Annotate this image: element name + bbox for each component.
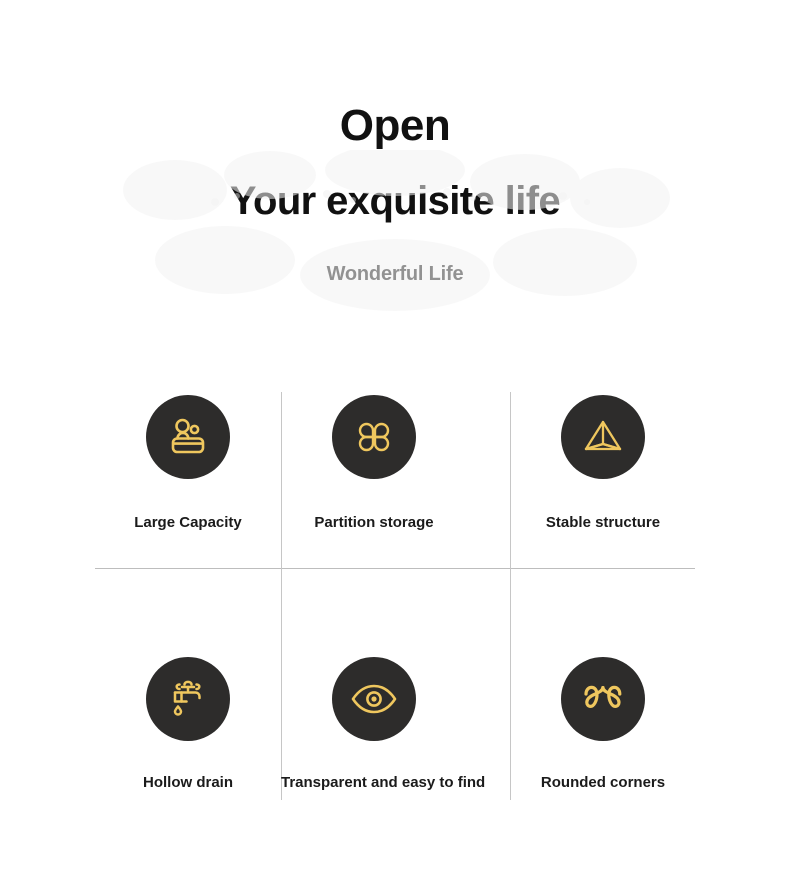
hero-title: Open	[0, 104, 790, 148]
feature-icon-badge	[332, 395, 416, 479]
feature-item-stable-structure[interactable]: Stable structure	[510, 395, 696, 532]
background-texture	[95, 150, 695, 320]
feature-label: Stable structure	[510, 514, 696, 532]
faucet-drip-icon	[166, 676, 210, 722]
feature-item-hollow-drain[interactable]: Hollow drain	[95, 657, 281, 792]
eye-icon	[350, 682, 398, 716]
hero-tagline: Wonderful Life	[0, 264, 790, 284]
feature-icon-badge	[146, 395, 230, 479]
feature-label: Partition storage	[281, 514, 467, 532]
wireframe-pyramid-icon	[580, 415, 626, 459]
feature-icon-badge	[146, 657, 230, 741]
feature-item-partition-storage[interactable]: Partition storage	[281, 395, 467, 532]
feature-label: Hollow drain	[95, 774, 281, 792]
feature-item-rounded-corners[interactable]: Rounded corners	[510, 657, 696, 792]
feature-item-large-capacity[interactable]: Large Capacity	[95, 395, 281, 532]
feature-icon-badge	[332, 657, 416, 741]
feature-item-transparent[interactable]: Transparent and easy to find	[281, 657, 467, 792]
hero-section: Open Your exquisite life Wonderful Life	[0, 0, 790, 284]
feature-icon-badge	[561, 395, 645, 479]
hero-subtitle: Your exquisite life	[0, 181, 790, 221]
feature-label: Large Capacity	[95, 514, 281, 532]
wavy-loop-icon	[580, 682, 626, 716]
feature-label: Rounded corners	[510, 774, 696, 792]
feature-label: Transparent and easy to find	[281, 774, 467, 792]
four-petal-clover-icon	[352, 415, 396, 459]
feature-icon-badge	[561, 657, 645, 741]
feature-grid: Large Capacity Partition storage	[95, 392, 695, 800]
grid-divider-horizontal	[95, 568, 695, 569]
capacity-basket-icon	[165, 414, 211, 460]
